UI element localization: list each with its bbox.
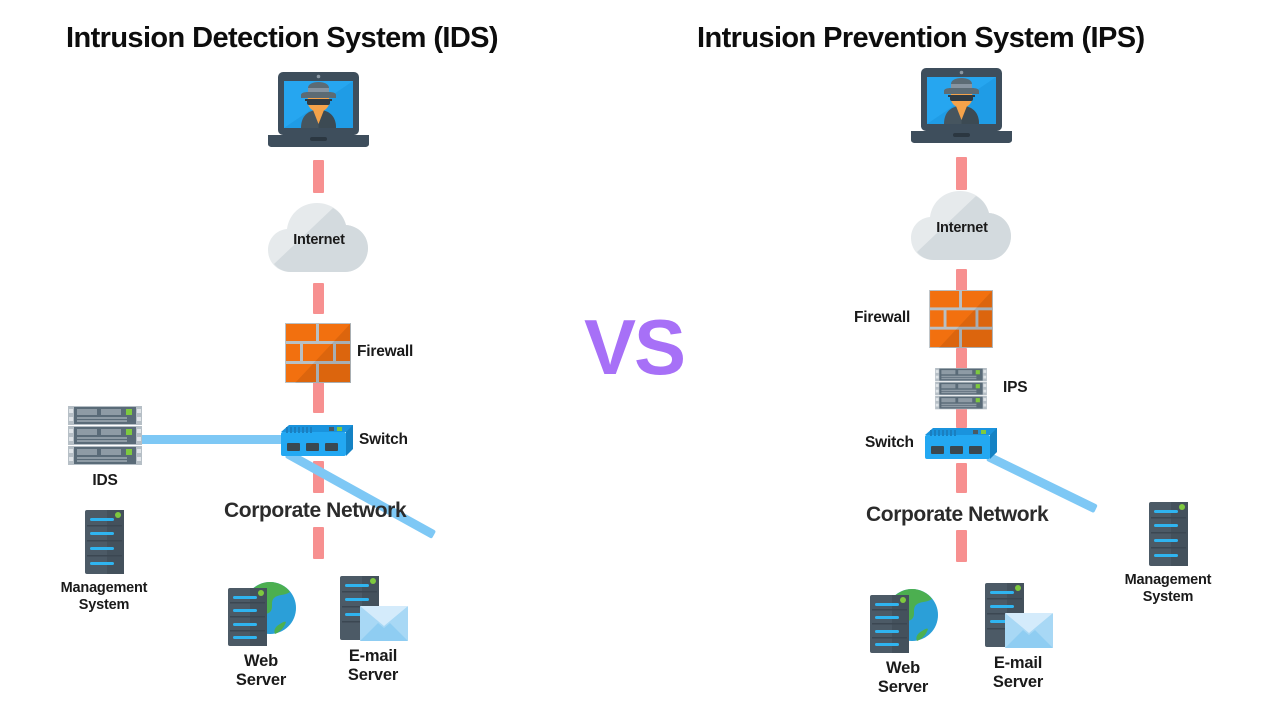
ips-web-server: Web Server bbox=[870, 585, 936, 653]
ips-internet-cloud: Internet bbox=[910, 180, 1014, 268]
cable-switch-management bbox=[285, 450, 436, 539]
ids-email-server: E-mail Server bbox=[340, 576, 408, 646]
web-server-globe-icon bbox=[228, 578, 294, 646]
email-server-envelope-icon bbox=[340, 576, 408, 646]
server-rack-icon bbox=[68, 406, 142, 466]
tower-server-icon bbox=[1149, 502, 1188, 566]
hacker-laptop-icon bbox=[265, 72, 372, 156]
hacker-laptop-icon bbox=[908, 68, 1015, 152]
ids-corporate-network-label: Corporate Network bbox=[224, 499, 406, 523]
email-server-label: E-mail Server bbox=[977, 654, 1059, 693]
link-corporate-servers bbox=[313, 527, 324, 559]
ips-switch: Switch bbox=[925, 426, 997, 464]
internet-label: Internet bbox=[267, 232, 371, 249]
web-server-label: Web Server bbox=[222, 652, 300, 691]
email-server-label: E-mail Server bbox=[332, 647, 414, 686]
link-internet-firewall bbox=[313, 283, 324, 314]
ids-firewall: Firewall bbox=[285, 323, 351, 383]
ids-management-system: Management System bbox=[85, 510, 124, 574]
link-firewall-switch bbox=[313, 382, 324, 413]
internet-label: Internet bbox=[910, 220, 1014, 237]
link-switch-corporate-ips bbox=[956, 463, 967, 493]
ids-appliance: IDS bbox=[68, 406, 142, 466]
ips-management-system: Management System bbox=[1149, 502, 1188, 566]
management-system-label: Management System bbox=[49, 580, 159, 614]
firewall-label: Firewall bbox=[854, 309, 910, 327]
link-firewall-ips bbox=[956, 348, 967, 370]
ips-appliance-label: IPS bbox=[1003, 379, 1027, 397]
email-server-envelope-icon bbox=[985, 583, 1053, 653]
network-switch-icon bbox=[281, 423, 353, 461]
ips-attacker-laptop bbox=[908, 68, 1015, 152]
ips-appliance: IPS bbox=[925, 368, 997, 410]
network-switch-icon bbox=[925, 426, 997, 464]
web-server-label: Web Server bbox=[864, 659, 942, 698]
server-rack-icon bbox=[925, 368, 997, 410]
ips-firewall: Firewall bbox=[928, 290, 994, 348]
firewall-brick-icon bbox=[285, 323, 351, 383]
ids-switch: Switch bbox=[281, 423, 353, 461]
ids-appliance-label: IDS bbox=[68, 472, 142, 490]
ids-internet-cloud: Internet bbox=[267, 192, 371, 280]
switch-label: Switch bbox=[359, 431, 408, 449]
switch-label: Switch bbox=[865, 434, 914, 452]
diagram-canvas: Intrusion Detection System (IDS) Intrusi… bbox=[0, 0, 1280, 720]
link-laptop-internet bbox=[313, 160, 324, 193]
cable-ids-switch bbox=[140, 435, 287, 444]
ids-web-server: Web Server bbox=[228, 578, 294, 646]
link-corporate-servers-ips bbox=[956, 530, 967, 562]
ids-panel-title: Intrusion Detection System (IDS) bbox=[66, 22, 498, 55]
management-system-label: Management System bbox=[1113, 572, 1223, 606]
tower-server-icon bbox=[85, 510, 124, 574]
firewall-label: Firewall bbox=[357, 343, 413, 361]
ips-panel-title: Intrusion Prevention System (IPS) bbox=[697, 22, 1145, 55]
link-ips-switch bbox=[956, 408, 967, 428]
ips-corporate-network-label: Corporate Network bbox=[866, 503, 1048, 527]
ids-attacker-laptop bbox=[265, 72, 372, 156]
web-server-globe-icon bbox=[870, 585, 936, 653]
firewall-brick-icon bbox=[928, 290, 994, 348]
versus-label: VS bbox=[584, 308, 684, 386]
ips-email-server: E-mail Server bbox=[985, 583, 1053, 653]
